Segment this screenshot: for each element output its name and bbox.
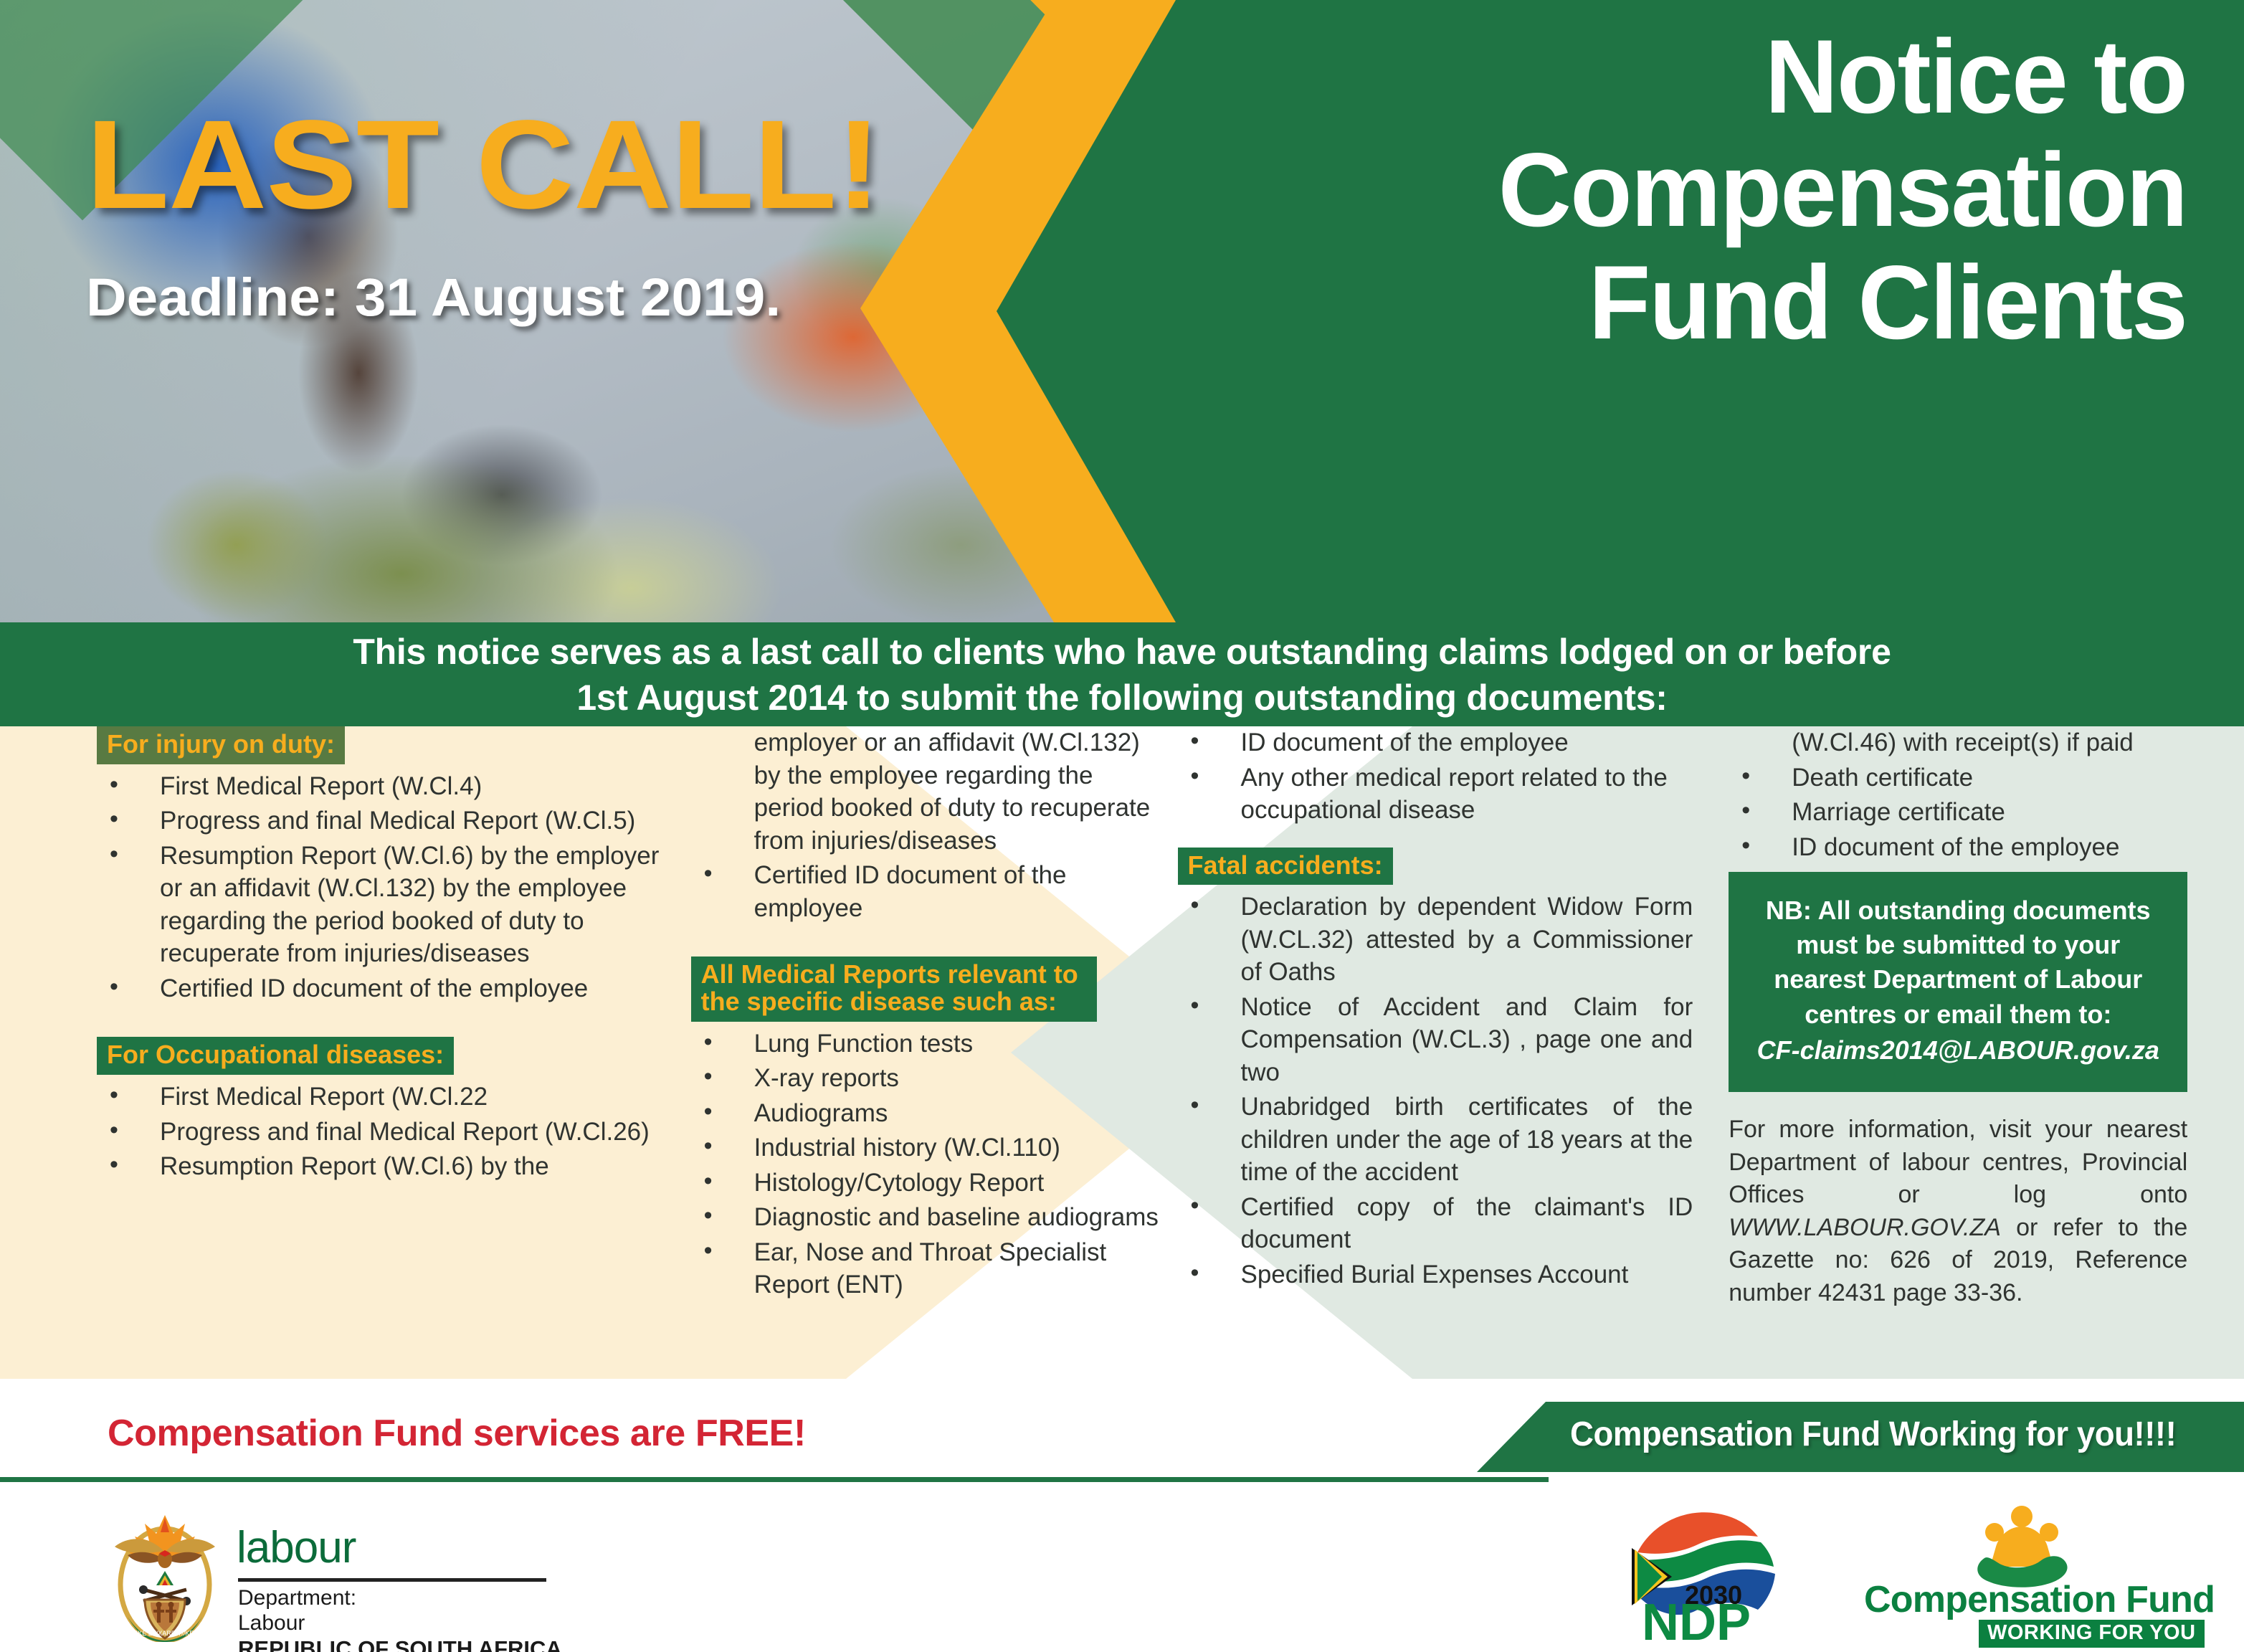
- department-name: Labour: [238, 1610, 562, 1636]
- list-injury-on-duty: First Medical Report (W.Cl.4) Progress a…: [97, 770, 662, 1005]
- heading-all-medical-reports: All Medical Reports relevant to the spec…: [691, 956, 1097, 1022]
- nb-callout-box: NB: All outstanding documents must be su…: [1729, 872, 2187, 1092]
- column-2: employer or an affidavit (W.Cl.132) by t…: [662, 726, 1164, 1379]
- labour-wordmark: labour: [237, 1522, 356, 1573]
- more-info-part1: For more information, visit your nearest…: [1729, 1116, 2187, 1208]
- list-medical-reports: Lung Function tests X-ray reports Audiog…: [691, 1027, 1164, 1301]
- more-information-paragraph: For more information, visit your nearest…: [1729, 1114, 2187, 1309]
- working-for-you-text: Compensation Fund Working for you!!!!: [1570, 1415, 2176, 1454]
- heading-occupational-diseases: For Occupational diseases:: [97, 1037, 454, 1075]
- green-divider-line: [0, 1477, 1549, 1482]
- list-item: Progress and final Medical Report (W.Cl.…: [97, 804, 662, 837]
- spacer: [691, 926, 1164, 956]
- heading-line-1: All Medical Reports relevant to: [701, 959, 1078, 989]
- column-1: For injury on duty: First Medical Report…: [0, 726, 662, 1379]
- list-item: Specified Burial Expenses Account: [1178, 1258, 1693, 1291]
- list-item: Resumption Report (W.Cl.6) by the employ…: [97, 840, 662, 970]
- labour-website-url[interactable]: WWW.LABOUR.GOV.ZA: [1729, 1214, 2001, 1241]
- spacer: [1178, 829, 1693, 848]
- banner-line-2: 1st August 2014 to submit the following …: [576, 675, 1667, 721]
- country-label: REPUBLIC OF SOUTH AFRICA: [238, 1636, 562, 1652]
- list-item: Ear, Nose and Throat Specialist Report (…: [691, 1236, 1164, 1301]
- heading-injury-on-duty: For injury on duty:: [97, 726, 345, 764]
- list-item: Certified ID document of the employee: [97, 972, 662, 1005]
- content-columns: For injury on duty: First Medical Report…: [0, 726, 2244, 1379]
- ndp-name-label: NDP: [1642, 1594, 1751, 1641]
- list-item: Diagnostic and baseline audiograms: [691, 1201, 1164, 1234]
- list-item: Any other medical report related to the …: [1178, 761, 1693, 827]
- page-title-line-1: Notice to: [1311, 20, 2187, 133]
- nb-email-link[interactable]: CF-claims2014@LABOUR.gov.za: [1747, 1033, 2169, 1068]
- list-item: Certified copy of the claimant's ID docu…: [1178, 1191, 1693, 1256]
- ndp-2030-logo-icon: 2030 NDP: [1627, 1505, 1792, 1641]
- department-label: Department:: [238, 1585, 562, 1610]
- list-item-continuation: employer or an affidavit (W.Cl.132) by t…: [691, 726, 1164, 857]
- list-item: Progress and final Medical Report (W.Cl.…: [97, 1116, 662, 1149]
- list-occupational-extra: ID document of the employee Any other me…: [1178, 726, 1693, 827]
- list-item: Resumption Report (W.Cl.6) by the: [97, 1150, 662, 1183]
- list-item: Declaration by dependent Widow Form (W.C…: [1178, 891, 1693, 989]
- notice-banner: This notice serves as a last call to cli…: [0, 622, 2244, 726]
- list-item: First Medical Report (W.Cl.22: [97, 1081, 662, 1114]
- nb-text: NB: All outstanding documents must be su…: [1766, 896, 2151, 1029]
- last-call-headline: LAST CALL!: [86, 108, 880, 224]
- list-occupational-diseases: First Medical Report (W.Cl.22 Progress a…: [97, 1081, 662, 1183]
- footer-section: !KE E: /XARRA //KE labour Department: La…: [0, 1494, 2244, 1652]
- svg-text:!KE E: /XARRA //KE: !KE E: /XARRA //KE: [136, 1630, 194, 1637]
- compensation-fund-tagline: WORKING FOR YOU: [1979, 1620, 2205, 1648]
- banner-line-1: This notice serves as a last call to cli…: [353, 629, 1891, 675]
- spacer: [97, 1007, 662, 1037]
- list-fatal-continuation: (W.Cl.46) with receipt(s) if paid Death …: [1729, 726, 2244, 863]
- poster-root: LAST CALL! Deadline: 31 August 2019. Not…: [0, 0, 2244, 1652]
- heading-line-2: the specific disease such as:: [701, 987, 1057, 1016]
- list-item: X-ray reports: [691, 1062, 1164, 1095]
- list-item: Industrial history (W.Cl.110): [691, 1131, 1164, 1164]
- list-item: ID document of the employee: [1178, 726, 1693, 759]
- bottom-slogan-bar: Compensation Fund services are FREE! Com…: [0, 1379, 2244, 1494]
- list-item: Certified ID document of the employee: [691, 859, 1164, 924]
- list-occupational-continuation: employer or an affidavit (W.Cl.132) by t…: [691, 726, 1164, 924]
- page-title-line-3: Fund Clients: [1311, 246, 2187, 359]
- list-item: First Medical Report (W.Cl.4): [97, 770, 662, 803]
- list-item: Audiograms: [691, 1097, 1164, 1130]
- south-africa-coat-of-arms-icon: !KE E: /XARRA //KE: [100, 1509, 229, 1642]
- heading-fatal-accidents: Fatal accidents:: [1178, 848, 1393, 886]
- content-section: For injury on duty: First Medical Report…: [0, 726, 2244, 1379]
- list-item: Notice of Accident and Claim for Compens…: [1178, 991, 1693, 1089]
- compensation-fund-name: Compensation Fund: [1864, 1578, 2215, 1621]
- list-item: Marriage certificate: [1729, 796, 2244, 829]
- list-item: Histology/Cytology Report: [691, 1167, 1164, 1200]
- footer-divider-rule: [238, 1578, 546, 1582]
- deadline-text: Deadline: 31 August 2019.: [86, 271, 781, 324]
- department-block: Department: Labour REPUBLIC OF SOUTH AFR…: [238, 1585, 562, 1652]
- page-title-line-2: Compensation: [1311, 133, 2187, 247]
- column-3: ID document of the employee Any other me…: [1164, 726, 1693, 1379]
- list-item: Lung Function tests: [691, 1027, 1164, 1060]
- hero-section: LAST CALL! Deadline: 31 August 2019. Not…: [0, 0, 2244, 622]
- list-item: Death certificate: [1729, 761, 2244, 794]
- column-4: (W.Cl.46) with receipt(s) if paid Death …: [1693, 726, 2244, 1379]
- list-item: ID document of the employee: [1729, 831, 2244, 864]
- list-fatal-accidents: Declaration by dependent Widow Form (W.C…: [1178, 891, 1693, 1291]
- free-services-text: Compensation Fund services are FREE!: [108, 1412, 806, 1455]
- page-title: Notice to Compensation Fund Clients: [1311, 20, 2187, 359]
- list-item: Unabridged birth certificates of the chi…: [1178, 1091, 1693, 1189]
- list-item-continuation: (W.Cl.46) with receipt(s) if paid: [1729, 726, 2244, 759]
